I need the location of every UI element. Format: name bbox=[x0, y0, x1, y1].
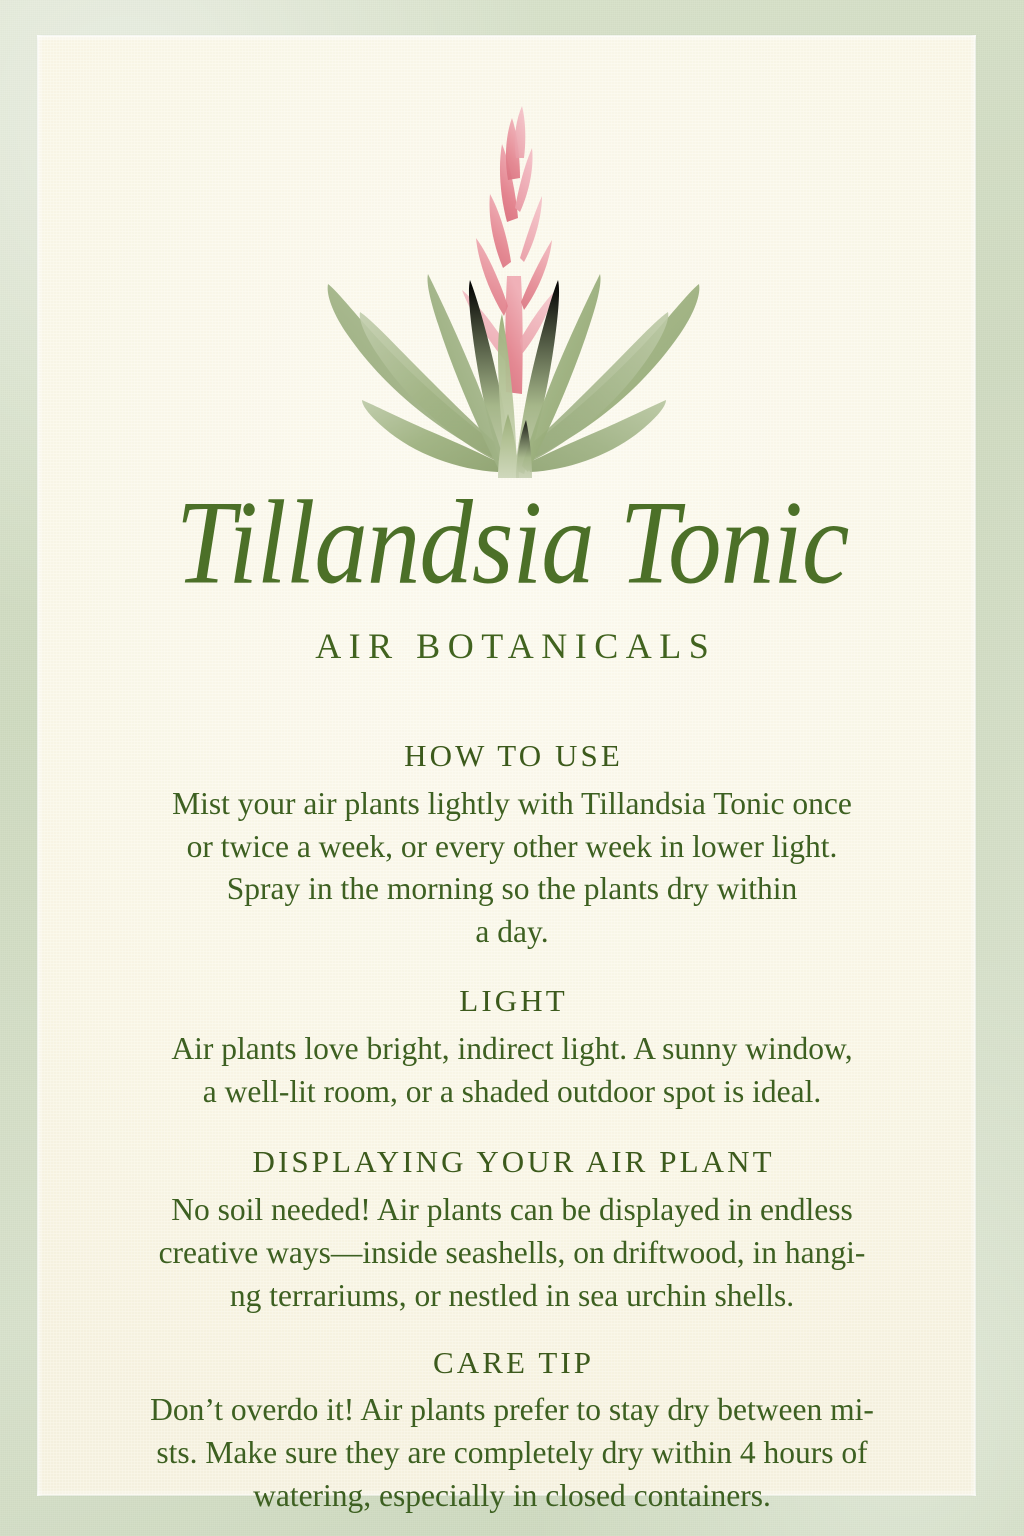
section-body-light: Air plants love bright, indirect light. … bbox=[0, 1028, 1024, 1114]
page-title: Tillandsia Tonic bbox=[0, 484, 1024, 604]
tillandsia-plant-illustration bbox=[292, 62, 732, 482]
section-body-how-to-use: Mist your air plants lightly with Tillan… bbox=[0, 783, 1024, 954]
section-heading-light: LIGHT bbox=[0, 982, 1024, 1021]
section-light: LIGHT Air plants love bright, indirect l… bbox=[0, 982, 1024, 1113]
section-heading-how-to-use: HOW TO USE bbox=[0, 737, 1024, 776]
page-subtitle: AIR BOTANICALS bbox=[0, 625, 1024, 667]
card-content: Tillandsia Tonic AIR BOTANICALS HOW TO U… bbox=[0, 0, 1024, 1536]
section-how-to-use: HOW TO USE Mist your air plants lightly … bbox=[0, 737, 1024, 954]
section-body-care-tip: Don’t overdo it! Air plants prefer to st… bbox=[0, 1389, 1024, 1517]
section-care-tip: CARE TIP Don’t overdo it! Air plants pre… bbox=[0, 1344, 1024, 1518]
section-heading-care-tip: CARE TIP bbox=[0, 1344, 1024, 1383]
care-instruction-sections: HOW TO USE Mist your air plants lightly … bbox=[0, 737, 1024, 1518]
section-displaying-your-air-plant: DISPLAYING YOUR AIR PLANT No soil needed… bbox=[0, 1143, 1024, 1317]
title-block: Tillandsia Tonic AIR BOTANICALS bbox=[0, 484, 1024, 667]
card-frame: Tillandsia Tonic AIR BOTANICALS HOW TO U… bbox=[0, 0, 1024, 1536]
section-body-displaying: No soil needed! Air plants can be displa… bbox=[0, 1189, 1024, 1317]
section-heading-displaying: DISPLAYING YOUR AIR PLANT bbox=[0, 1143, 1024, 1182]
